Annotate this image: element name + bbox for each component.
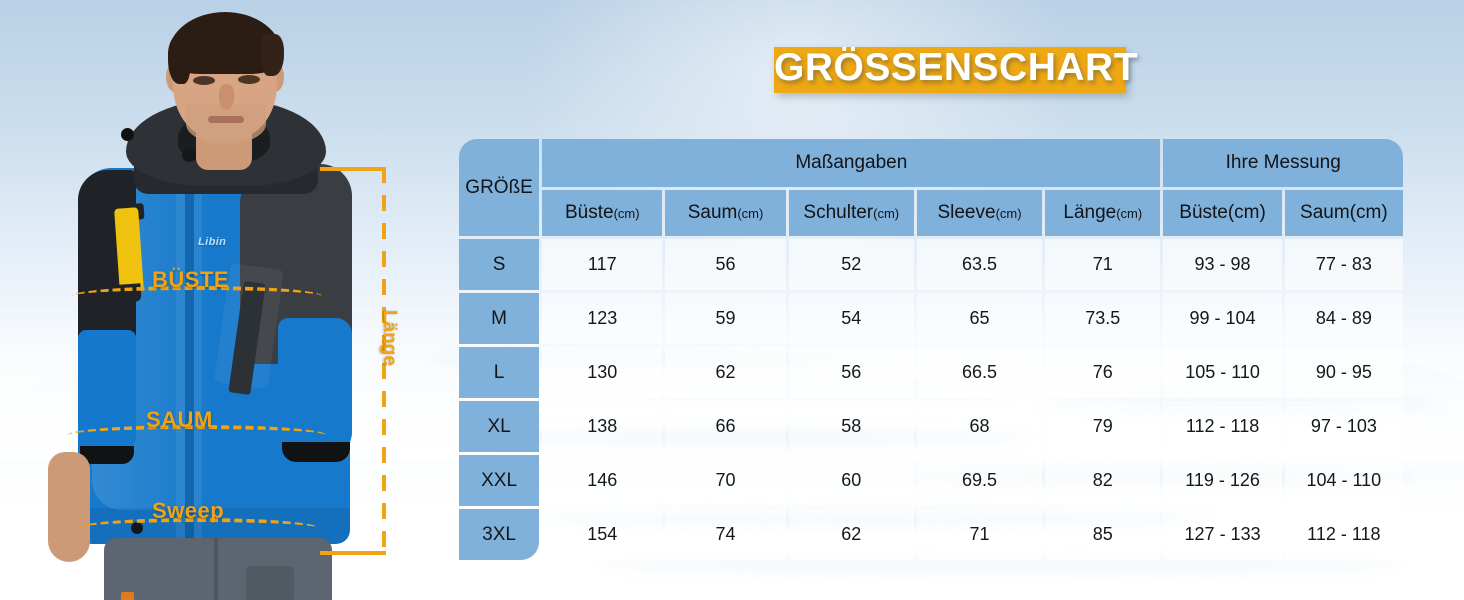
annotation-label-buste: BÜSTE (152, 267, 229, 293)
ski-pants (104, 538, 332, 600)
header-group-measurements: Maßangaben (542, 139, 1160, 187)
page-title: GRÖSSENSCHART (774, 43, 1126, 93)
header-col-saum-garment-unit: (cm) (737, 206, 763, 221)
row-size-label: XXL (459, 455, 539, 506)
header-col-buste-garment: Büste(cm) (542, 190, 662, 237)
cell-schulter: 62 (789, 509, 914, 560)
hood-drawcord (121, 128, 134, 141)
header-col-laenge-name: Länge (1063, 202, 1116, 223)
cell-saum-body: 90 - 95 (1285, 347, 1403, 398)
cell-sleeve: 63.5 (917, 239, 1042, 290)
header-group-your-measurement: Ihre Messung (1163, 139, 1403, 187)
table-row: 3XL 154 74 62 71 85 127 - 133 112 - 118 (459, 509, 1403, 560)
collar-snap (182, 148, 196, 162)
brand-logo: Libin (198, 236, 226, 248)
header-col-buste-garment-name: Büste (565, 202, 614, 223)
header-col-buste-garment-unit: (cm) (614, 206, 640, 221)
cell-saum-garment: 62 (665, 347, 785, 398)
header-col-laenge-unit: (cm) (1116, 206, 1142, 221)
header-col-saum-garment: Saum(cm) (665, 190, 785, 237)
header-col-schulter-name: Schulter (803, 202, 873, 223)
annotation-label-sweep: Sweep (152, 498, 224, 524)
cell-schulter: 54 (789, 293, 914, 344)
cell-laenge: 82 (1045, 455, 1160, 506)
table-row: XL 138 66 58 68 79 112 - 118 97 - 103 (459, 401, 1403, 452)
header-col-buste-body: Büste(cm) (1163, 190, 1281, 237)
cell-laenge: 85 (1045, 509, 1160, 560)
group-header-row: GRÖßE Maßangaben Ihre Messung (459, 139, 1403, 187)
cell-buste-body: 93 - 98 (1163, 239, 1281, 290)
model-eye (193, 76, 215, 85)
pants-accent (121, 592, 134, 600)
cell-laenge: 79 (1045, 401, 1160, 452)
cell-sleeve: 68 (917, 401, 1042, 452)
cell-buste-body: 119 - 126 (1163, 455, 1281, 506)
cell-saum-body: 84 - 89 (1285, 293, 1403, 344)
header-col-buste-body-name: Büste (1179, 202, 1228, 223)
cell-sleeve: 65 (917, 293, 1042, 344)
cell-buste-body: 112 - 118 (1163, 401, 1281, 452)
row-size-label: L (459, 347, 539, 398)
cell-saum-body: 104 - 110 (1285, 455, 1403, 506)
model-nose (219, 84, 234, 110)
cell-saum-body: 77 - 83 (1285, 239, 1403, 290)
annotation-label-saum: SAUM (146, 407, 213, 433)
cell-buste-garment: 146 (542, 455, 662, 506)
header-col-saum-body: Saum(cm) (1285, 190, 1403, 237)
cell-schulter: 60 (789, 455, 914, 506)
cell-laenge: 76 (1045, 347, 1160, 398)
table-row: S 117 56 52 63.5 71 93 - 98 77 - 83 (459, 239, 1403, 290)
pants-seam (214, 538, 218, 600)
row-size-label: 3XL (459, 509, 539, 560)
cell-schulter: 58 (789, 401, 914, 452)
cell-sleeve: 71 (917, 509, 1042, 560)
cell-schulter: 52 (789, 239, 914, 290)
cell-saum-body: 97 - 103 (1285, 401, 1403, 452)
table-row: L 130 62 56 66.5 76 105 - 110 90 - 95 (459, 347, 1403, 398)
cell-saum-garment: 56 (665, 239, 785, 290)
header-col-buste-body-unit: (cm) (1228, 202, 1266, 223)
header-col-schulter: Schulter(cm) (789, 190, 914, 237)
laenge-bracket-top (320, 167, 386, 171)
header-col-saum-garment-name: Saum (688, 202, 738, 223)
header-size: GRÖßE (459, 139, 539, 236)
table-row: M 123 59 54 65 73.5 99 - 104 84 - 89 (459, 293, 1403, 344)
cell-laenge: 71 (1045, 239, 1160, 290)
row-size-label: S (459, 239, 539, 290)
model-hair-side (262, 34, 284, 76)
cell-sleeve: 69.5 (917, 455, 1042, 506)
cell-buste-garment: 123 (542, 293, 662, 344)
header-col-saum-body-name: Saum (1300, 202, 1350, 223)
cell-buste-garment: 154 (542, 509, 662, 560)
size-table-head: GRÖßE Maßangaben Ihre Messung Büste(cm) … (459, 139, 1403, 236)
annotation-label-laenge: Länge (378, 310, 400, 366)
laenge-bracket-bottom (320, 551, 386, 555)
size-table: GRÖßE Maßangaben Ihre Messung Büste(cm) … (456, 136, 1406, 563)
size-table-body: S 117 56 52 63.5 71 93 - 98 77 - 83 M 12… (459, 239, 1403, 560)
header-col-sleeve-name: Sleeve (937, 202, 995, 223)
header-col-sleeve-unit: (cm) (996, 206, 1022, 221)
cell-schulter: 56 (789, 347, 914, 398)
cell-saum-garment: 66 (665, 401, 785, 452)
size-table-container: GRÖßE Maßangaben Ihre Messung Büste(cm) … (456, 136, 1406, 548)
cell-buste-garment: 138 (542, 401, 662, 452)
row-size-label: XL (459, 401, 539, 452)
cell-sleeve: 66.5 (917, 347, 1042, 398)
header-col-laenge: Länge(cm) (1045, 190, 1160, 237)
model-mouth (208, 116, 244, 123)
table-row: XXL 146 70 60 69.5 82 119 - 126 104 - 11… (459, 455, 1403, 506)
model-jaw (186, 104, 266, 144)
row-size-label: M (459, 293, 539, 344)
model-hair-side (168, 36, 190, 84)
pants-pocket (246, 566, 294, 600)
jacket-cuff-right (282, 442, 350, 462)
cell-buste-body: 99 - 104 (1163, 293, 1281, 344)
size-chart-graphic: Libin BÜSTE SAUM Sweep Länge GRÖSSENSCHA… (0, 0, 1464, 600)
cell-saum-body: 112 - 118 (1285, 509, 1403, 560)
jacket-zipper (185, 172, 194, 538)
model-eye (238, 75, 260, 84)
header-col-schulter-unit: (cm) (873, 206, 899, 221)
cell-saum-garment: 74 (665, 509, 785, 560)
cell-saum-garment: 59 (665, 293, 785, 344)
cell-laenge: 73.5 (1045, 293, 1160, 344)
cell-saum-garment: 70 (665, 455, 785, 506)
sub-header-row: Büste(cm) Saum(cm) Schulter(cm) Sleeve(c… (459, 190, 1403, 237)
header-col-sleeve: Sleeve(cm) (917, 190, 1042, 237)
model-hand (48, 452, 90, 562)
cell-buste-garment: 117 (542, 239, 662, 290)
cell-buste-body: 105 - 110 (1163, 347, 1281, 398)
cell-buste-body: 127 - 133 (1163, 509, 1281, 560)
header-col-saum-body-unit: (cm) (1350, 202, 1388, 223)
cell-buste-garment: 130 (542, 347, 662, 398)
